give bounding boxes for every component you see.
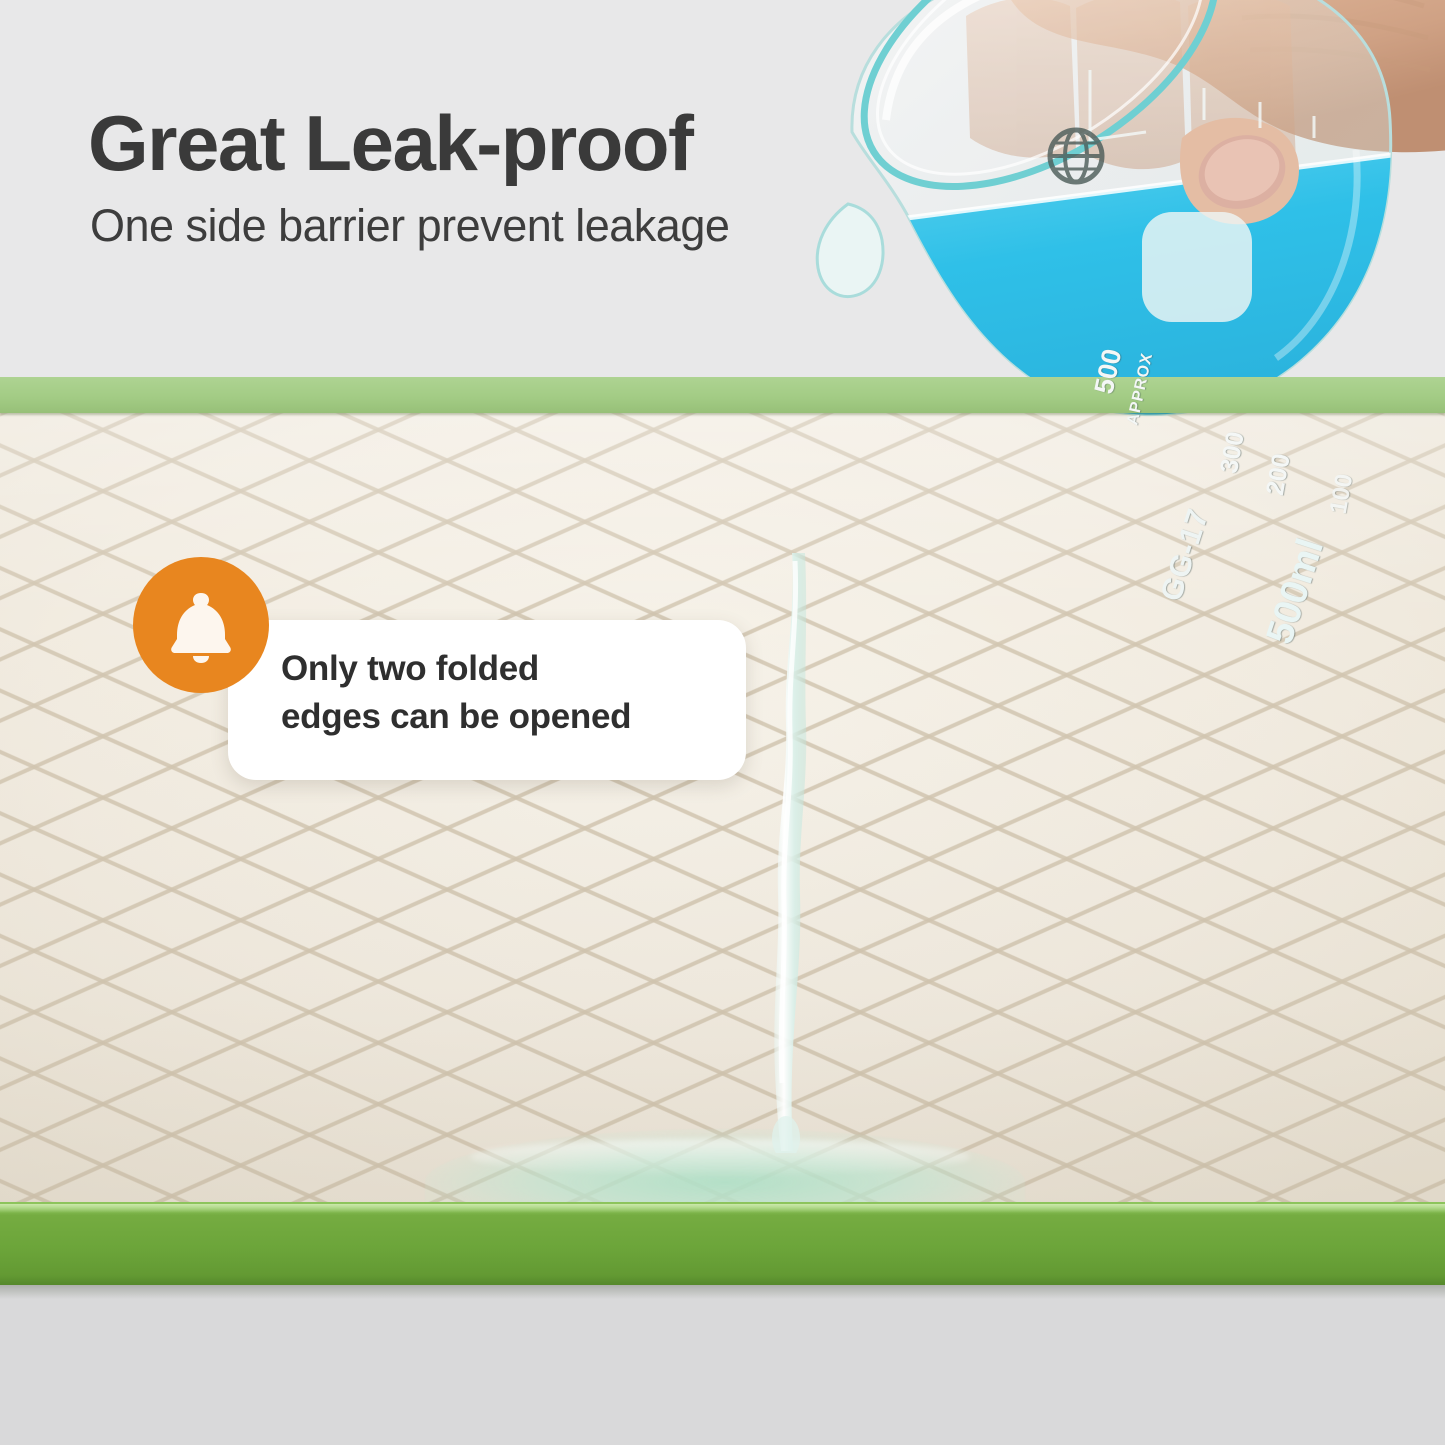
bell-icon [164, 587, 238, 663]
bell-badge [133, 557, 269, 693]
pouring-water-stream [762, 553, 808, 1153]
bottom-leak-barrier [0, 1202, 1445, 1285]
page-subtitle: One side barrier prevent leakage [90, 200, 729, 252]
footer-band [0, 1285, 1445, 1445]
top-leak-barrier [0, 377, 1445, 413]
beaker-with-hand [790, 0, 1445, 620]
bottom-barrier-highlight [0, 1204, 1445, 1213]
puddle-sheen [470, 1139, 970, 1175]
glass-beaker [800, 0, 1445, 520]
barrier-drop-shadow [0, 1285, 1445, 1299]
callout-text: Only two folded edges can be opened [281, 645, 751, 741]
page-title: Great Leak-proof [88, 98, 692, 189]
product-feature-image: Great Leak-proof One side barrier preven… [0, 0, 1445, 1445]
